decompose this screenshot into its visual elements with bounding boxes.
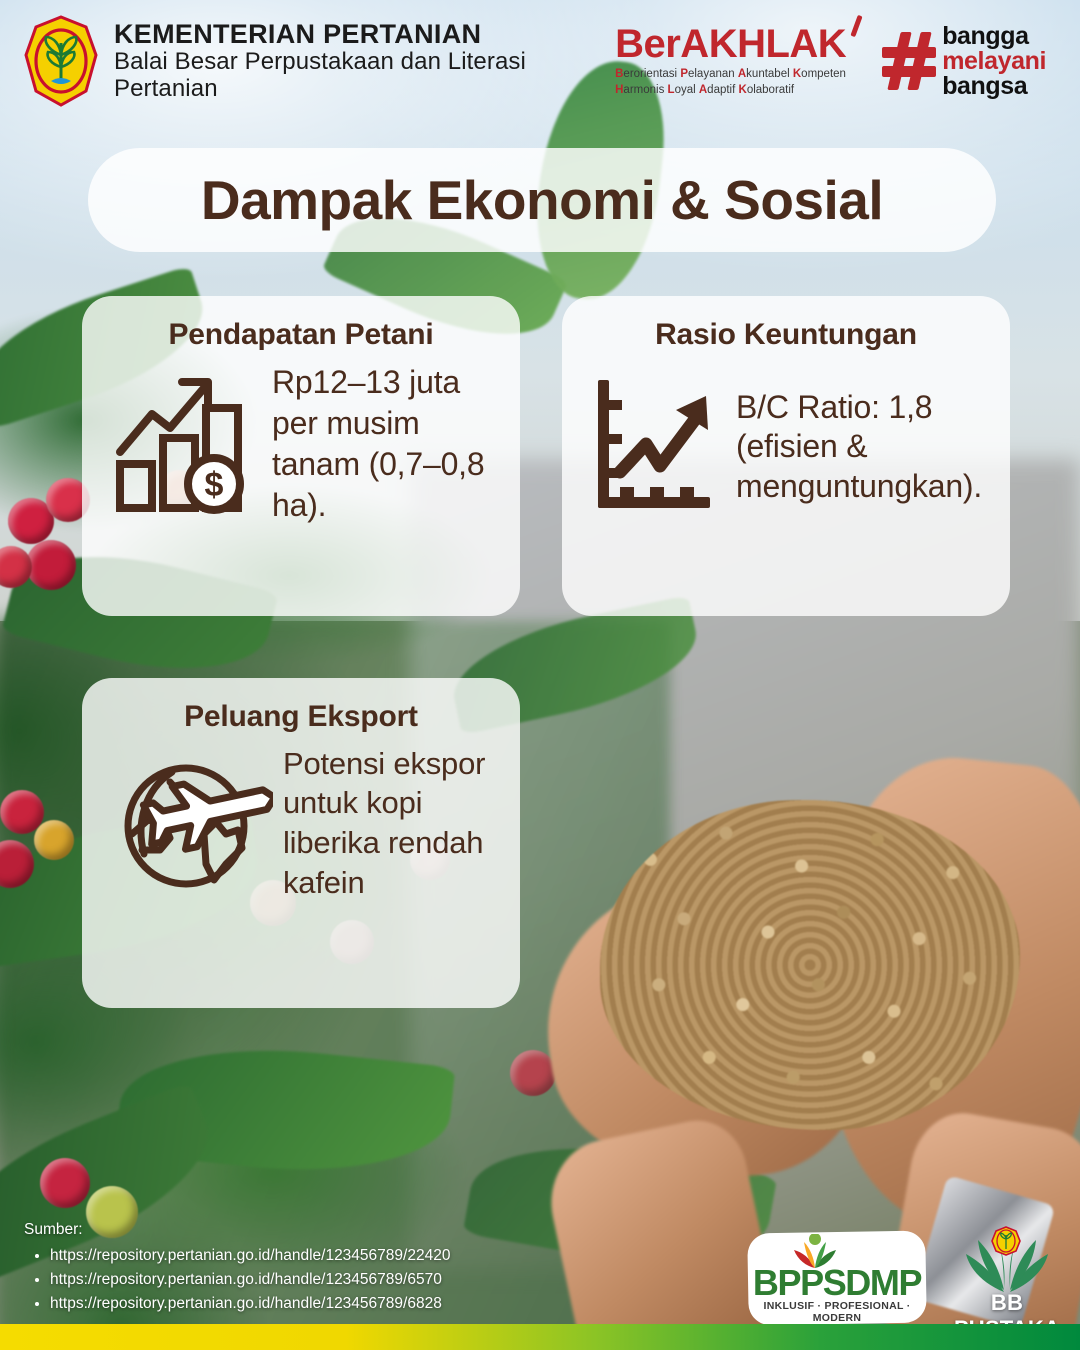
- berakhlak-tick-icon: [851, 15, 863, 37]
- line-chart-arrow-up-icon: [588, 372, 718, 522]
- hashtag-icon: [882, 32, 936, 90]
- ministry-name: KEMENTERIAN PERTANIAN: [114, 19, 615, 49]
- card-title: Pendapatan Petani: [108, 318, 494, 352]
- card-rasio-keuntungan: Rasio Keuntungan B/C Ratio: 1,8 (efisien…: [562, 296, 1010, 616]
- berakhlak-subtitle: Berorientasi Pelayanan Akuntabel Kompete…: [615, 67, 846, 98]
- card-pendapatan-petani: Pendapatan Petani $ Rp12–13 juta per mus…: [82, 296, 520, 616]
- page-title-card: Dampak Ekonomi & Sosial: [88, 148, 996, 252]
- ministry-brand: KEMENTERIAN PERTANIAN Balai Besar Perpus…: [0, 15, 615, 107]
- source-link[interactable]: https://repository.pertanian.go.id/handl…: [50, 1292, 450, 1316]
- berakhlak-title: BerAKHLAK: [615, 24, 846, 64]
- sources-block: Sumber: https://repository.pertanian.go.…: [24, 1218, 450, 1316]
- header-logos: BerAKHLAK Berorientasi Pelayanan Akuntab…: [615, 24, 1080, 99]
- card-peluang-eksport: Peluang Eksport Potensi ekspor untuk kop…: [82, 678, 520, 1008]
- bangga-line3: bangsa: [942, 74, 1046, 99]
- kementan-mini-seal-icon: [991, 1226, 1021, 1256]
- coffee-cherry: [40, 1158, 90, 1208]
- bar-chart-dollar-growth-icon: $: [108, 366, 258, 521]
- source-link[interactable]: https://repository.pertanian.go.id/handl…: [50, 1268, 450, 1292]
- bppsdmp-name: BPPSDMP: [748, 1262, 926, 1304]
- berakhlak-logo: BerAKHLAK Berorientasi Pelayanan Akuntab…: [615, 24, 846, 98]
- header-bar: KEMENTERIAN PERTANIAN Balai Besar Perpus…: [0, 0, 1080, 122]
- berakhlak-subtitle-line2: Harmonis Loyal Adaptif Kolaboratif: [615, 83, 846, 99]
- berakhlak-title-text: BerAKHLAK: [615, 22, 846, 66]
- card-text: B/C Ratio: 1,8 (efisien & menguntungkan)…: [736, 388, 984, 505]
- coffee-cherry: [510, 1050, 556, 1096]
- coffee-beans-pile: [600, 800, 1020, 1130]
- kementan-seal-icon: [24, 15, 98, 107]
- bangga-melayani-bangsa-logo: bangga melayani bangsa: [882, 24, 1046, 99]
- globe-airplane-parcel-icon: [108, 738, 273, 908]
- berakhlak-subtitle-line1: Berorientasi Pelayanan Akuntabel Kompete…: [615, 67, 846, 83]
- bangga-line1: bangga: [942, 24, 1046, 49]
- bangga-line2: melayani: [942, 49, 1046, 74]
- source-link[interactable]: https://repository.pertanian.go.id/handl…: [50, 1244, 450, 1268]
- svg-text:$: $: [205, 466, 224, 504]
- ministry-unit: Balai Besar Perpustakaan dan Literasi Pe…: [114, 49, 615, 103]
- sources-list: https://repository.pertanian.go.id/handl…: [24, 1244, 450, 1316]
- coffee-cherry: [34, 820, 74, 860]
- card-text: Rp12–13 juta per musim tanam (0,7–0,8 ha…: [272, 362, 494, 526]
- page-title: Dampak Ekonomi & Sosial: [201, 168, 883, 232]
- footer-logos: BPPSDMP INKLUSIF · PROFESIONAL · MODERN: [748, 1228, 1070, 1324]
- bottom-gradient-bar: [0, 1324, 1080, 1350]
- bbpustaka-logo: BB PUSTAKA: [944, 1228, 1070, 1324]
- card-title: Peluang Eksport: [108, 700, 494, 734]
- coffee-cherry: [26, 540, 76, 590]
- card-title: Rasio Keuntungan: [588, 318, 984, 352]
- bppsdmp-logo: BPPSDMP INKLUSIF · PROFESIONAL · MODERN: [748, 1232, 926, 1324]
- bppsdmp-tagline: INKLUSIF · PROFESIONAL · MODERN: [748, 1300, 926, 1324]
- card-text: Potensi ekspor untuk kopi liberika renda…: [283, 744, 494, 903]
- sources-label: Sumber:: [24, 1218, 450, 1242]
